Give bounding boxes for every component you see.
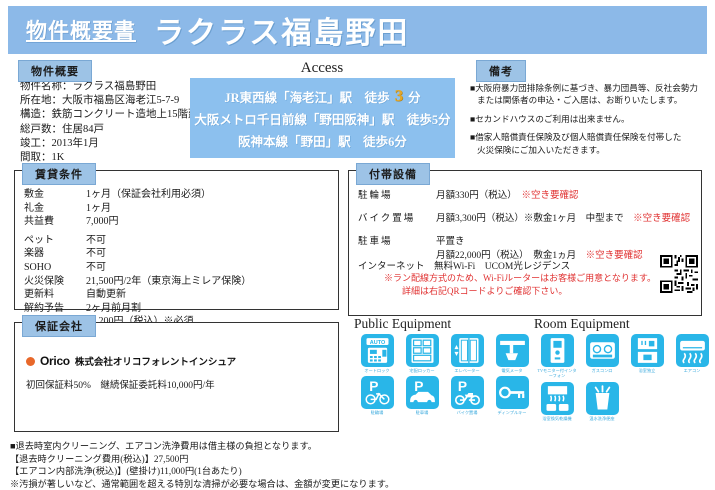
table-row: 礼金1ヶ月 bbox=[24, 202, 334, 216]
guarantee-brand-name: Orico bbox=[40, 354, 70, 368]
rent-key: 火災保険 bbox=[24, 275, 86, 289]
rent-conditions-table: 敷金1ヶ月（保証会社利用必須） 礼金1ヶ月 共益費7,000円 ペット不可 楽器… bbox=[24, 188, 334, 329]
section-tab-rent-conditions: 賃貸条件 bbox=[22, 163, 96, 185]
equipment-item-bicycle-parking: P 駐輪場 bbox=[356, 376, 398, 415]
equipment-item-tv-intercom: TVモニター付インターフォン bbox=[536, 334, 578, 379]
table-row: ペット不可 bbox=[24, 234, 334, 248]
footer-line: ※汚損が著しいなど、通常範囲を超える特別な清掃が必要な場合は、金額が変更になりま… bbox=[10, 478, 700, 490]
section-tab-overview: 物件概要 bbox=[18, 60, 92, 82]
facility-key: 駐輪場 bbox=[358, 187, 436, 201]
table-row: 敷金1ヶ月（保証会社利用必須） bbox=[24, 188, 334, 202]
equipment-item-delivery-locker: 宅配ロッカー bbox=[401, 334, 443, 373]
equipment-label: オートロック bbox=[356, 368, 398, 373]
remark-line: または関係者の申込・ご入居は、お断りいたします。 bbox=[470, 94, 708, 106]
footer-notes: ■退去時室内クリーニング、エアコン洗浄費用は借主様の負担となります。 【退去時ク… bbox=[10, 440, 700, 490]
public-equipment-heading: Public Equipment bbox=[354, 316, 451, 332]
public-equipment-grid: AUTO オートロック 宅配ロッカー エレベーター 電気メータ P bbox=[356, 334, 536, 416]
property-summary-document: 物件概要書 ラクラス福島野田 物件概要 物件名称：ラクラス福島野田 所在地：大阪… bbox=[0, 0, 715, 479]
car-parking-icon: P bbox=[406, 376, 439, 409]
equipment-label: ディンプルキー bbox=[491, 410, 533, 415]
table-row: SOHO不可 bbox=[24, 261, 334, 275]
facility-value: 月額330円（税込） ※空き要確認 bbox=[436, 187, 579, 201]
access-route-1-unit: 分 bbox=[408, 87, 421, 106]
remark-item: ■借家人賠償責任保険及び個人賠償責任保険を付帯した 火災保険にご加入いただきます… bbox=[470, 131, 708, 156]
rent-key: 敷金 bbox=[24, 188, 86, 202]
rent-key: ペット bbox=[24, 234, 86, 248]
access-box: JR東西線「海老江」駅 徒歩 3 分 大阪メトロ千日前線「野田阪神」駅 徒歩5分… bbox=[190, 78, 455, 158]
equipment-label: 駐車場 bbox=[401, 410, 443, 415]
rent-key: 更新料 bbox=[24, 288, 86, 302]
svg-text:P: P bbox=[457, 380, 466, 395]
remark-line: ■セカンドハウスのご利用は出来ません。 bbox=[470, 114, 630, 124]
dimple-key-icon bbox=[496, 376, 529, 409]
footer-line: 【退去時クリーニング費用(税込)】27,500円 bbox=[10, 453, 700, 466]
section-tab-facility: 付帯設備 bbox=[356, 163, 430, 185]
equipment-item-auto-lock: AUTO オートロック bbox=[356, 334, 398, 373]
rent-value: 1ヶ月（保証会社利用必須） bbox=[86, 188, 211, 202]
guarantee-company-name: 株式会社オリコフォレントインシュア bbox=[75, 354, 236, 368]
svg-text:AUTO: AUTO bbox=[369, 340, 385, 346]
document-header: 物件概要書 ラクラス福島野田 bbox=[8, 6, 707, 54]
equipment-item-electric-meter: 電気メータ bbox=[491, 334, 533, 373]
facility-value-text: 月額3,300円（税込）※敷金1ヶ月 中型まで bbox=[436, 214, 633, 224]
remark-item: ■セカンドハウスのご利用は出来ません。 bbox=[470, 113, 708, 125]
internet-note: ※ラン配線方式のため、Wi-Fiルーターはお客様ご用意となります。 bbox=[358, 272, 658, 285]
equipment-item-elevator: エレベーター bbox=[446, 334, 488, 373]
document-type-label: 物件概要書 bbox=[26, 15, 136, 45]
separate-bath-toilet-icon bbox=[631, 334, 664, 367]
access-route-3: 阪神本線「野田」駅 徒歩6分 bbox=[238, 131, 407, 150]
motorbike-parking-icon: P bbox=[451, 376, 484, 409]
table-row: 駐車場 平置き bbox=[358, 233, 698, 247]
equipment-label: ガスコンロ bbox=[581, 368, 623, 373]
qr-code-icon bbox=[660, 255, 698, 293]
access-heading: Access bbox=[232, 60, 412, 77]
equipment-item-air-conditioner: エアコン bbox=[671, 334, 713, 379]
bathroom-dryer-icon bbox=[541, 382, 574, 415]
facility-value-text: 月額330円（税込） bbox=[436, 191, 522, 201]
facility-value: 月額3,300円（税込）※敷金1ヶ月 中型まで ※空き要確認 bbox=[436, 210, 690, 224]
internet-info: インターネット 無料Wi-Fi UCOM光レジデンス ※ラン配線方式のため、Wi… bbox=[358, 258, 658, 297]
equipment-label: TVモニター付インターフォン bbox=[536, 368, 578, 379]
facility-note: ※空き要確認 bbox=[522, 191, 579, 201]
equipment-item-system-kitchen: ガスコンロ bbox=[581, 334, 623, 379]
svg-text:P: P bbox=[369, 380, 378, 395]
remarks-list: ■大阪府暴力団排除条例に基づき、暴力団員等、反社会勢力 または関係者の申込・ご入… bbox=[470, 82, 708, 162]
access-route-2: 大阪メトロ千日前線「野田阪神」駅 徒歩5分 bbox=[194, 109, 450, 128]
bicycle-parking-icon: P bbox=[361, 376, 394, 409]
equipment-label: 駐輪場 bbox=[356, 410, 398, 415]
rent-key: 礼金 bbox=[24, 202, 86, 216]
rent-key: 楽器 bbox=[24, 247, 86, 261]
room-equipment-heading: Room Equipment bbox=[534, 316, 630, 332]
washlet-icon bbox=[586, 382, 619, 415]
equipment-label: 浴室換気乾燥機 bbox=[536, 416, 578, 421]
property-title: ラクラス福島野田 bbox=[154, 8, 409, 52]
remark-line: ■大阪府暴力団排除条例に基づき、暴力団員等、反社会勢力 bbox=[470, 83, 698, 93]
table-row: 解約予告2ヶ月前月割 bbox=[24, 302, 334, 316]
rent-value: 21,500円/2年（東京海上ミレア保険） bbox=[86, 275, 251, 289]
table-row: 駐輪場 月額330円（税込） ※空き要確認 bbox=[358, 187, 698, 201]
guarantee-details: Orico 株式会社オリコフォレントインシュア 初回保証料50% 継続保証委託料… bbox=[26, 354, 326, 391]
remark-line: 火災保険にご加入いただきます。 bbox=[470, 144, 708, 156]
rent-value: 2ヶ月前月割 bbox=[86, 302, 141, 316]
rent-key: 解約予告 bbox=[24, 302, 86, 316]
remark-line: ■借家人賠償責任保険及び個人賠償責任保険を付帯した bbox=[470, 132, 681, 142]
access-route-1: JR東西線「海老江」駅 徒歩 3 分 bbox=[224, 86, 420, 106]
orico-logo-icon bbox=[26, 357, 35, 366]
table-row: 更新料自動更新 bbox=[24, 288, 334, 302]
section-tab-guarantee: 保証会社 bbox=[22, 315, 96, 337]
access-walk-minutes: 3 bbox=[393, 86, 406, 106]
internet-label: インターネット 無料Wi-Fi UCOM光レジデンス bbox=[358, 258, 658, 272]
footer-line: ■退去時室内クリーニング、エアコン洗浄費用は借主様の負担となります。 bbox=[10, 440, 700, 453]
facility-note: ※空き要確認 bbox=[633, 214, 690, 224]
tv-intercom-icon bbox=[541, 334, 574, 367]
air-conditioner-icon bbox=[676, 334, 709, 367]
equipment-label: 温水洗浄便座 bbox=[581, 416, 623, 421]
equipment-label: 電気メータ bbox=[491, 368, 533, 373]
table-row: 共益費7,000円 bbox=[24, 215, 334, 229]
rent-key: 共益費 bbox=[24, 215, 86, 229]
rent-value: 不可 bbox=[86, 261, 106, 275]
table-row: 楽器不可 bbox=[24, 247, 334, 261]
rent-value: 不可 bbox=[86, 247, 106, 261]
guarantee-brand: Orico 株式会社オリコフォレントインシュア bbox=[26, 354, 326, 368]
access-route-1-text: JR東西線「海老江」駅 徒歩 bbox=[224, 87, 389, 106]
table-row: バイク置場 月額3,300円（税込）※敷金1ヶ月 中型まで ※空き要確認 bbox=[358, 210, 698, 224]
delivery-locker-icon bbox=[406, 334, 439, 367]
footer-line: 【エアコン内部洗浄(税込)】(壁掛け)11,000円(1台あたり) bbox=[10, 465, 700, 478]
equipment-item-dimple-key: ディンプルキー bbox=[491, 376, 533, 415]
equipment-item-washlet: 温水洗浄便座 bbox=[581, 382, 623, 421]
system-kitchen-icon bbox=[586, 334, 619, 367]
equipment-item-bathroom-dryer: 浴室換気乾燥機 bbox=[536, 382, 578, 421]
equipment-label: 宅配ロッカー bbox=[401, 368, 443, 373]
rent-key: SOHO bbox=[24, 261, 86, 275]
facility-key: 駐車場 bbox=[358, 233, 436, 247]
equipment-label: 浴室独立 bbox=[626, 368, 668, 373]
section-tab-remarks: 備考 bbox=[476, 60, 526, 82]
equipment-label: エアコン bbox=[671, 368, 713, 373]
rent-value: 7,000円 bbox=[86, 215, 119, 229]
room-equipment-grid: TVモニター付インターフォン ガスコンロ 浴室独立 エアコン 浴室換気乾燥機 bbox=[536, 334, 715, 421]
elevator-icon bbox=[451, 334, 484, 367]
rent-value: 自動更新 bbox=[86, 288, 126, 302]
equipment-item-motorbike-parking: P バイク置場 bbox=[446, 376, 488, 415]
rent-value: 1ヶ月 bbox=[86, 202, 111, 216]
facility-value: 平置き bbox=[436, 233, 465, 247]
table-row: 火災保険21,500円/2年（東京海上ミレア保険） bbox=[24, 275, 334, 289]
rent-value: 不可 bbox=[86, 234, 106, 248]
auto-lock-icon: AUTO bbox=[361, 334, 394, 367]
guarantee-fee: 初回保証料50% 継続保証委託料10,000円/年 bbox=[26, 377, 326, 391]
facility-key: バイク置場 bbox=[358, 210, 436, 224]
remark-item: ■大阪府暴力団排除条例に基づき、暴力団員等、反社会勢力 または関係者の申込・ご入… bbox=[470, 82, 708, 107]
equipment-label: エレベーター bbox=[446, 368, 488, 373]
electric-meter-icon bbox=[496, 334, 529, 367]
equipment-item-separate-bath-toilet: 浴室独立 bbox=[626, 334, 668, 379]
internet-note: 詳細は右記QRコードよりご確認下さい。 bbox=[358, 285, 658, 298]
equipment-label: バイク置場 bbox=[446, 410, 488, 415]
equipment-item-car-parking: P 駐車場 bbox=[401, 376, 443, 415]
